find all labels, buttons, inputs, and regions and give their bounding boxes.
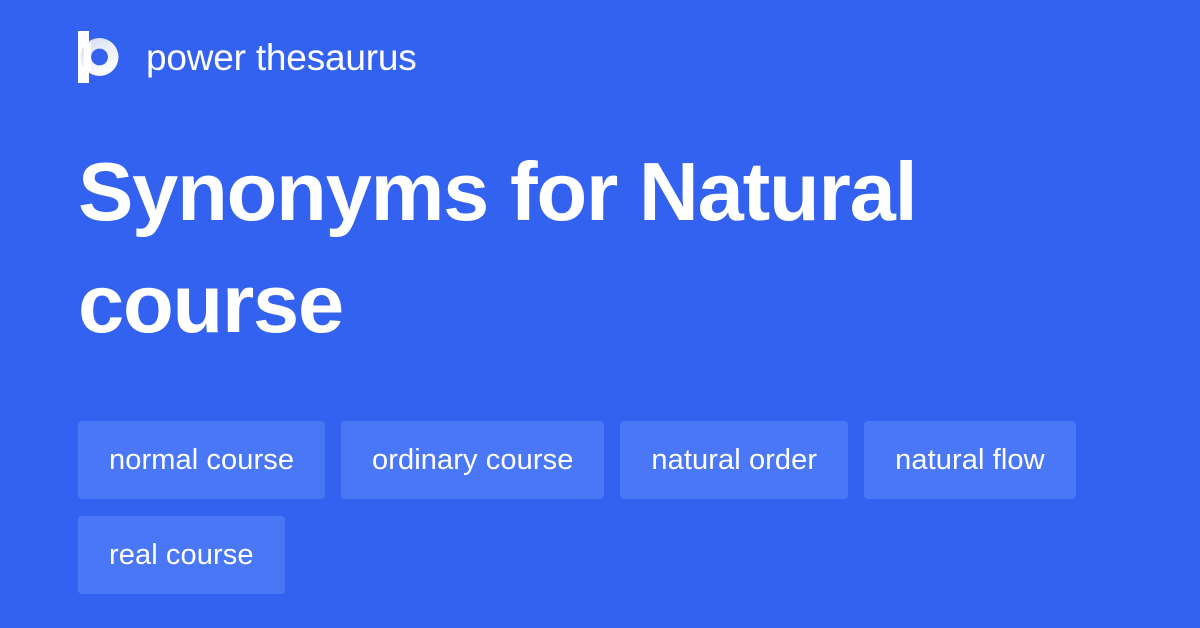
synonym-chip[interactable]: natural flow [864, 421, 1076, 499]
page-title: Synonyms for Natural course [78, 136, 1078, 360]
synonym-chip[interactable]: ordinary course [341, 421, 604, 499]
synonym-chip[interactable]: real course [78, 516, 285, 594]
power-thesaurus-b-logo-icon [78, 31, 124, 83]
synonyms-share-card: power thesaurus Synonyms for Natural cou… [0, 0, 1200, 628]
synonym-chip[interactable]: natural order [620, 421, 848, 499]
synonym-chip[interactable]: normal course [78, 421, 325, 499]
brand-name: power thesaurus [146, 39, 417, 76]
brand-logo[interactable]: power thesaurus [78, 28, 417, 86]
synonym-list: normal course ordinary course natural or… [78, 421, 1138, 594]
